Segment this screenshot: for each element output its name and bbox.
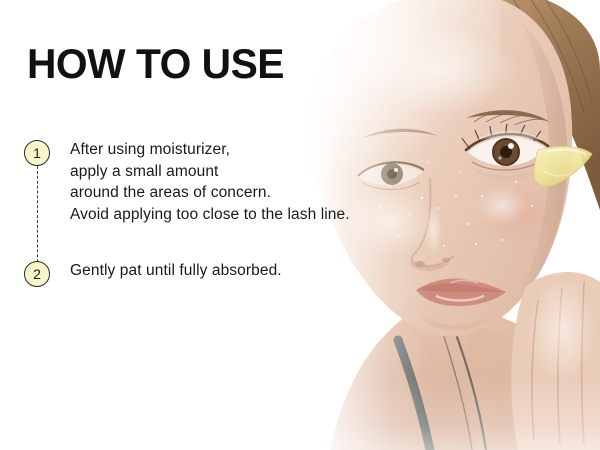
how-to-use-infographic: HOW TO USE 1 After using moisturizer, ap… [0, 0, 600, 450]
hand-highlight [528, 278, 596, 382]
step-2-badge-column: 2 [24, 259, 70, 287]
step-1-text: After using moisturizer, apply a small a… [70, 138, 350, 225]
step-item-1: 1 After using moisturizer, apply a small… [24, 138, 424, 225]
page-title: HOW TO USE [27, 42, 284, 86]
step-item-2: 2 Gently pat until fully absorbed. [24, 259, 424, 287]
cheek-highlight-right [476, 186, 528, 226]
forehead-highlight [360, 26, 520, 114]
step-1-badge-column: 1 [24, 138, 70, 166]
step-number-badge-2: 2 [24, 261, 50, 287]
nostril-right [442, 257, 450, 262]
steps-list: 1 After using moisturizer, apply a small… [24, 138, 424, 287]
step-connector-dashed-line [37, 166, 38, 272]
step-number-badge-1: 1 [24, 140, 50, 166]
step-2-text: Gently pat until fully absorbed. [70, 259, 282, 282]
